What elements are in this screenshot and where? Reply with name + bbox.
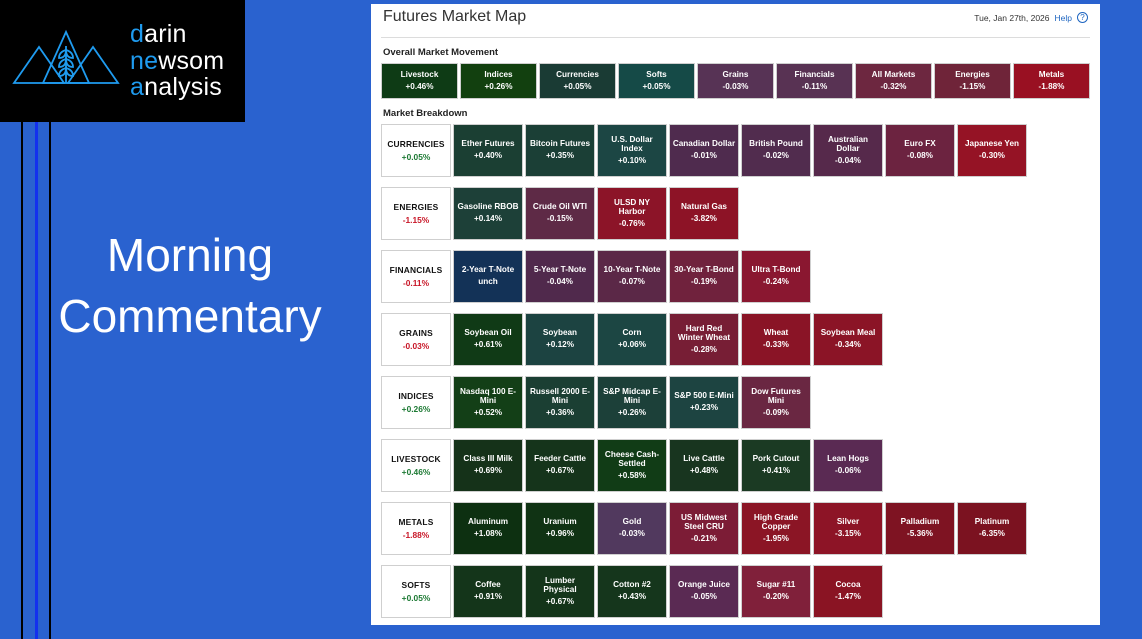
breakdown-cell-name: Natural Gas (681, 202, 727, 212)
breakdown-cell-name: Orange Juice (678, 580, 730, 590)
overall-cell-name: Indices (484, 70, 512, 80)
breakdown-cell-pct: -0.04% (835, 156, 861, 167)
breakdown-cell[interactable]: Cheese Cash-Settled+0.58% (597, 439, 667, 492)
breakdown-cell-name: High Grade Copper (744, 513, 808, 532)
breakdown-cell-pct: -0.28% (691, 345, 717, 356)
brand-line-2: newsom (130, 48, 224, 75)
overall-cell-pct: -1.15% (960, 82, 986, 93)
market-breakdown-label: Market Breakdown (383, 108, 1090, 119)
breakdown-group-pct: +0.46% (402, 467, 431, 477)
breakdown-group-name: SOFTS (402, 580, 431, 590)
breakdown-group-pct: -0.11% (403, 278, 429, 288)
overall-cell-name: Financials (794, 70, 834, 80)
breakdown-cell-pct: -0.20% (763, 592, 789, 603)
breakdown-row: CURRENCIES+0.05%Ether Futures+0.40%Bitco… (381, 124, 1090, 177)
breakdown-cell-pct: +0.41% (762, 466, 790, 477)
breakdown-cell-name: Aluminum (468, 517, 508, 527)
breakdown-cell-name: Class III Milk (463, 454, 512, 464)
breakdown-cell-pct: -3.15% (835, 529, 861, 540)
breakdown-cell-name: Japanese Yen (965, 139, 1019, 149)
breakdown-cell-pct: -1.47% (835, 592, 861, 603)
breakdown-group-name: METALS (398, 517, 433, 527)
breakdown-cell-pct: +0.36% (546, 408, 574, 419)
breakdown-cell-pct: -1.95% (763, 534, 789, 545)
breakdown-cell-pct: -6.35% (979, 529, 1005, 540)
breakdown-cell[interactable]: Euro FX-0.08% (885, 124, 955, 177)
overall-cell[interactable]: Softs+0.05% (618, 63, 695, 99)
breakdown-cell-pct: -0.24% (763, 277, 789, 288)
breakdown-cell[interactable]: Lumber Physical+0.67% (525, 565, 595, 618)
breakdown-cell-name: Canadian Dollar (673, 139, 735, 149)
breakdown-cell-pct: +0.91% (474, 592, 502, 603)
breakdown-cell-name: Lean Hogs (827, 454, 869, 464)
breakdown-row: SOFTS+0.05%Coffee+0.91%Lumber Physical+0… (381, 565, 1090, 618)
accent-stripe-black-left (21, 122, 23, 639)
breakdown-cell[interactable]: Silver-3.15% (813, 502, 883, 555)
breakdown-cell[interactable]: Live Cattle+0.48% (669, 439, 739, 492)
breakdown-cell-pct: -0.03% (619, 529, 645, 540)
overall-cell-pct: +0.26% (485, 82, 513, 93)
breakdown-cell-pct: -0.08% (907, 151, 933, 162)
breakdown-cell[interactable]: Corn+0.06% (597, 313, 667, 366)
breakdown-cell-pct: -0.04% (547, 277, 573, 288)
breakdown-cell-name: Sugar #11 (757, 580, 796, 590)
breakdown-cell[interactable]: S&P 500 E-Mini+0.23% (669, 376, 739, 429)
breakdown-group-name: INDICES (398, 391, 433, 401)
breakdown-cell[interactable]: Bitcoin Futures+0.35% (525, 124, 595, 177)
breakdown-cell-name: Cotton #2 (613, 580, 651, 590)
breakdown-cell-name: Gasoline RBOB (458, 202, 519, 212)
overall-cell-name: All Markets (872, 70, 916, 80)
breakdown-cell-name: Soybean (543, 328, 577, 338)
breakdown-cell-name: Lumber Physical (528, 576, 592, 595)
breakdown-group-header[interactable]: ENERGIES-1.15% (381, 187, 451, 240)
overall-cell-name: Energies (955, 70, 990, 80)
overall-cell-name: Currencies (556, 70, 599, 80)
breakdown-cell-name: US Midwest Steel CRU (672, 513, 736, 532)
breakdown-cell-pct: unch (478, 277, 498, 288)
accent-stripe-blue (35, 122, 38, 639)
breakdown-cell-name: Euro FX (904, 139, 935, 149)
header-meta: Tue, Jan 27th, 2026 Help ? (974, 12, 1088, 23)
breakdown-cell-pct: +0.43% (618, 592, 646, 603)
breakdown-group-header[interactable]: SOFTS+0.05% (381, 565, 451, 618)
breakdown-cell-pct: -0.33% (763, 340, 789, 351)
current-date: Tue, Jan 27th, 2026 (974, 13, 1049, 23)
promo-title-line-2: Commentary (30, 286, 350, 347)
breakdown-cell[interactable]: Nasdaq 100 E-Mini+0.52% (453, 376, 523, 429)
breakdown-cell-name: 5-Year T-Note (534, 265, 586, 275)
breakdown-cell[interactable]: 30-Year T-Bond-0.19% (669, 250, 739, 303)
breakdown-cell[interactable]: Platinum-6.35% (957, 502, 1027, 555)
breakdown-cell-name: Russell 2000 E-Mini (528, 387, 592, 406)
breakdown-cell-pct: +0.52% (474, 408, 502, 419)
breakdown-cell-name: Platinum (975, 517, 1010, 527)
breakdown-cell[interactable]: Sugar #11-0.20% (741, 565, 811, 618)
overall-cell-pct: -0.03% (723, 82, 749, 93)
breakdown-cell[interactable]: Palladium-5.36% (885, 502, 955, 555)
breakdown-cell[interactable]: Coffee+0.91% (453, 565, 523, 618)
breakdown-cell[interactable]: Russell 2000 E-Mini+0.36% (525, 376, 595, 429)
breakdown-group-pct: -0.03% (403, 341, 430, 351)
breakdown-cell[interactable]: Gold-0.03% (597, 502, 667, 555)
breakdown-cell[interactable]: Ultra T-Bond-0.24% (741, 250, 811, 303)
overall-cell-name: Metals (1039, 70, 1064, 80)
overall-cell[interactable]: All Markets-0.32% (855, 63, 932, 99)
breakdown-cell-pct: +0.35% (546, 151, 574, 162)
breakdown-cell-pct: -0.02% (763, 151, 789, 162)
breakdown-cell[interactable]: Japanese Yen-0.30% (957, 124, 1027, 177)
breakdown-group-header[interactable]: GRAINS-0.03% (381, 313, 451, 366)
breakdown-cell-name: Soybean Meal (821, 328, 876, 338)
breakdown-cell-name: Corn (622, 328, 641, 338)
breakdown-cell-pct: +0.69% (474, 466, 502, 477)
breakdown-cell-name: U.S. Dollar Index (600, 135, 664, 154)
breakdown-cell-name: Gold (623, 517, 642, 527)
breakdown-cell[interactable]: ULSD NY Harbor-0.76% (597, 187, 667, 240)
breakdown-group-header[interactable]: METALS-1.88% (381, 502, 451, 555)
breakdown-cell-pct: +0.67% (546, 597, 574, 608)
breakdown-cell-pct: -0.76% (619, 219, 645, 230)
breakdown-cell-pct: +0.96% (546, 529, 574, 540)
breakdown-cell-pct: +0.26% (618, 408, 646, 419)
breakdown-cell-pct: -0.06% (835, 466, 861, 477)
breakdown-group-name: FINANCIALS (390, 265, 443, 275)
overall-cell-pct: +0.05% (643, 82, 671, 93)
breakdown-cell-name: Bitcoin Futures (530, 139, 590, 149)
breakdown-cell-name: Cheese Cash-Settled (600, 450, 664, 469)
breakdown-cell-pct: +0.10% (618, 156, 646, 167)
breakdown-group-header[interactable]: INDICES+0.26% (381, 376, 451, 429)
breakdown-cell[interactable]: Soybean Oil+0.61% (453, 313, 523, 366)
breakdown-cell-name: Silver (837, 517, 859, 527)
breakdown-group-pct: +0.05% (402, 593, 431, 603)
brand-wordmark: darin newsom analysis (130, 21, 224, 101)
breakdown-cell[interactable]: Australian Dollar-0.04% (813, 124, 883, 177)
breakdown-cell[interactable]: Aluminum+1.08% (453, 502, 523, 555)
breakdown-cell-pct: +0.40% (474, 151, 502, 162)
breakdown-cell-name: Nasdaq 100 E-Mini (456, 387, 520, 406)
breakdown-row: GRAINS-0.03%Soybean Oil+0.61%Soybean+0.1… (381, 313, 1090, 366)
breakdown-cell-pct: -0.30% (979, 151, 1005, 162)
breakdown-cell-pct: +0.06% (618, 340, 646, 351)
futures-market-map-card: Futures Market Map Tue, Jan 27th, 2026 H… (371, 4, 1100, 625)
breakdown-cell[interactable]: Feeder Cattle+0.67% (525, 439, 595, 492)
breakdown-cell[interactable]: Dow Futures Mini-0.09% (741, 376, 811, 429)
breakdown-cell-name: Palladium (901, 517, 940, 527)
breakdown-cell-pct: -0.15% (547, 214, 573, 225)
breakdown-cell-name: Uranium (543, 517, 576, 527)
promo-title-line-1: Morning (30, 225, 350, 286)
overall-market-movement-row: Livestock+0.46%Indices+0.26%Currencies+0… (381, 63, 1090, 99)
breakdown-cell[interactable]: Class III Milk+0.69% (453, 439, 523, 492)
breakdown-cell-pct: -0.21% (691, 534, 717, 545)
breakdown-cell-name: Hard Red Winter Wheat (672, 324, 736, 343)
overall-cell-pct: -0.32% (881, 82, 907, 93)
breakdown-cell-name: British Pound (749, 139, 803, 149)
breakdown-cell-name: Feeder Cattle (534, 454, 586, 464)
breakdown-cell-pct: -0.01% (691, 151, 717, 162)
breakdown-cell-name: Dow Futures Mini (744, 387, 808, 406)
overall-cell[interactable]: Livestock+0.46% (381, 63, 458, 99)
breakdown-group-pct: +0.05% (402, 152, 431, 162)
overall-cell-pct: +0.05% (564, 82, 592, 93)
breakdown-group-name: LIVESTOCK (391, 454, 441, 464)
breakdown-row: FINANCIALS-0.11%2-Year T-Noteunch5-Year … (381, 250, 1090, 303)
breakdown-cell-name: Ether Futures (461, 139, 514, 149)
brand-line-1: darin (130, 21, 224, 48)
breakdown-cell-name: 10-Year T-Note (604, 265, 661, 275)
overall-market-movement-label: Overall Market Movement (383, 47, 1090, 58)
overall-cell-name: Livestock (401, 70, 439, 80)
page-title: Futures Market Map (383, 8, 526, 26)
breakdown-cell[interactable]: Cotton #2+0.43% (597, 565, 667, 618)
breakdown-group-name: CURRENCIES (387, 139, 444, 149)
breakdown-cell-pct: -0.05% (691, 592, 717, 603)
breakdown-cell-pct: +0.14% (474, 214, 502, 225)
breakdown-cell[interactable]: Hard Red Winter Wheat-0.28% (669, 313, 739, 366)
breakdown-group-name: ENERGIES (394, 202, 439, 212)
breakdown-cell-pct: +1.08% (474, 529, 502, 540)
breakdown-cell-pct: -0.07% (619, 277, 645, 288)
card-header: Futures Market Map Tue, Jan 27th, 2026 H… (381, 4, 1090, 38)
breakdown-cell-pct: -3.82% (691, 214, 717, 225)
breakdown-cell-pct: -0.34% (835, 340, 861, 351)
breakdown-row: LIVESTOCK+0.46%Class III Milk+0.69%Feede… (381, 439, 1090, 492)
overall-cell[interactable]: Grains-0.03% (697, 63, 774, 99)
breakdown-row: INDICES+0.26%Nasdaq 100 E-Mini+0.52%Russ… (381, 376, 1090, 429)
breakdown-cell-pct: +0.67% (546, 466, 574, 477)
breakdown-cell[interactable]: Soybean+0.12% (525, 313, 595, 366)
breakdown-group-header[interactable]: FINANCIALS-0.11% (381, 250, 451, 303)
breakdown-cell[interactable]: Uranium+0.96% (525, 502, 595, 555)
breakdown-cell[interactable]: Orange Juice-0.05% (669, 565, 739, 618)
breakdown-cell-name: Cocoa (835, 580, 860, 590)
question-mark-circle-icon[interactable]: ? (1077, 12, 1088, 23)
breakdown-cell[interactable]: Soybean Meal-0.34% (813, 313, 883, 366)
breakdown-cell[interactable]: Pork Cutout+0.41% (741, 439, 811, 492)
breakdown-cell[interactable]: Natural Gas-3.82% (669, 187, 739, 240)
breakdown-cell-name: S&P 500 E-Mini (674, 391, 733, 401)
overall-cell-name: Grains (723, 70, 749, 80)
breakdown-cell[interactable]: Gasoline RBOB+0.14% (453, 187, 523, 240)
breakdown-group-header[interactable]: CURRENCIES+0.05% (381, 124, 451, 177)
breakdown-cell-name: Wheat (764, 328, 789, 338)
breakdown-row: ENERGIES-1.15%Gasoline RBOB+0.14%Crude O… (381, 187, 1090, 240)
overall-cell[interactable]: Financials-0.11% (776, 63, 853, 99)
breakdown-cell-name: Soybean Oil (464, 328, 511, 338)
help-link[interactable]: Help (1055, 13, 1072, 23)
breakdown-cell-pct: -0.19% (691, 277, 717, 288)
breakdown-cell-pct: -0.09% (763, 408, 789, 419)
overall-cell-pct: -0.11% (802, 82, 828, 93)
brand-line-3: analysis (130, 74, 224, 101)
breakdown-cell-pct: +0.61% (474, 340, 502, 351)
breakdown-cell-name: ULSD NY Harbor (600, 198, 664, 217)
breakdown-cell-name: Ultra T-Bond (751, 265, 800, 275)
overall-cell[interactable]: Energies-1.15% (934, 63, 1011, 99)
overall-cell[interactable]: Indices+0.26% (460, 63, 537, 99)
brand-logo-block: darin newsom analysis (0, 0, 245, 122)
breakdown-cell-name: 2-Year T-Note (462, 265, 514, 275)
breakdown-cell[interactable]: Ether Futures+0.40% (453, 124, 523, 177)
breakdown-cell-pct: +0.12% (546, 340, 574, 351)
breakdown-group-header[interactable]: LIVESTOCK+0.46% (381, 439, 451, 492)
breakdown-cell-pct: +0.58% (618, 471, 646, 482)
breakdown-cell[interactable]: High Grade Copper-1.95% (741, 502, 811, 555)
breakdown-cell[interactable]: Cocoa-1.47% (813, 565, 883, 618)
breakdown-group-name: GRAINS (399, 328, 433, 338)
breakdown-cell[interactable]: 10-Year T-Note-0.07% (597, 250, 667, 303)
promo-title: Morning Commentary (30, 225, 350, 346)
breakdown-row: METALS-1.88%Aluminum+1.08%Uranium+0.96%G… (381, 502, 1090, 555)
overall-cell-name: Softs (646, 70, 666, 80)
breakdown-cell[interactable]: 2-Year T-Noteunch (453, 250, 523, 303)
breakdown-cell[interactable]: Lean Hogs-0.06% (813, 439, 883, 492)
overall-cell-pct: -1.88% (1039, 82, 1065, 93)
breakdown-cell-pct: -5.36% (907, 529, 933, 540)
breakdown-cell-name: Pork Cutout (753, 454, 800, 464)
breakdown-cell[interactable]: British Pound-0.02% (741, 124, 811, 177)
breakdown-cell[interactable]: U.S. Dollar Index+0.10% (597, 124, 667, 177)
breakdown-group-pct: -1.88% (403, 530, 430, 540)
breakdown-group-pct: -1.15% (403, 215, 430, 225)
market-breakdown-section: CURRENCIES+0.05%Ether Futures+0.40%Bitco… (381, 124, 1090, 618)
breakdown-cell[interactable]: 5-Year T-Note-0.04% (525, 250, 595, 303)
breakdown-cell[interactable]: Wheat-0.33% (741, 313, 811, 366)
breakdown-group-pct: +0.26% (402, 404, 431, 414)
breakdown-cell-name: Live Cattle (683, 454, 724, 464)
breakdown-cell[interactable]: Crude Oil WTI-0.15% (525, 187, 595, 240)
overall-cell[interactable]: Currencies+0.05% (539, 63, 616, 99)
overall-cell-pct: +0.46% (406, 82, 434, 93)
breakdown-cell-name: Crude Oil WTI (533, 202, 587, 212)
breakdown-cell[interactable]: Canadian Dollar-0.01% (669, 124, 739, 177)
breakdown-cell-name: Coffee (475, 580, 500, 590)
breakdown-cell-name: S&P Midcap E-Mini (600, 387, 664, 406)
breakdown-cell-pct: +0.23% (690, 403, 718, 414)
overall-cell[interactable]: Metals-1.88% (1013, 63, 1090, 99)
breakdown-cell-name: 30-Year T-Bond (674, 265, 734, 275)
breakdown-cell[interactable]: US Midwest Steel CRU-0.21% (669, 502, 739, 555)
breakdown-cell-name: Australian Dollar (816, 135, 880, 154)
mountains-wheat-logo-icon (12, 26, 120, 96)
breakdown-cell[interactable]: S&P Midcap E-Mini+0.26% (597, 376, 667, 429)
promo-panel: darin newsom analysis Morning Commentary (0, 0, 371, 639)
accent-stripe-black-right (49, 122, 51, 639)
breakdown-cell-pct: +0.48% (690, 466, 718, 477)
